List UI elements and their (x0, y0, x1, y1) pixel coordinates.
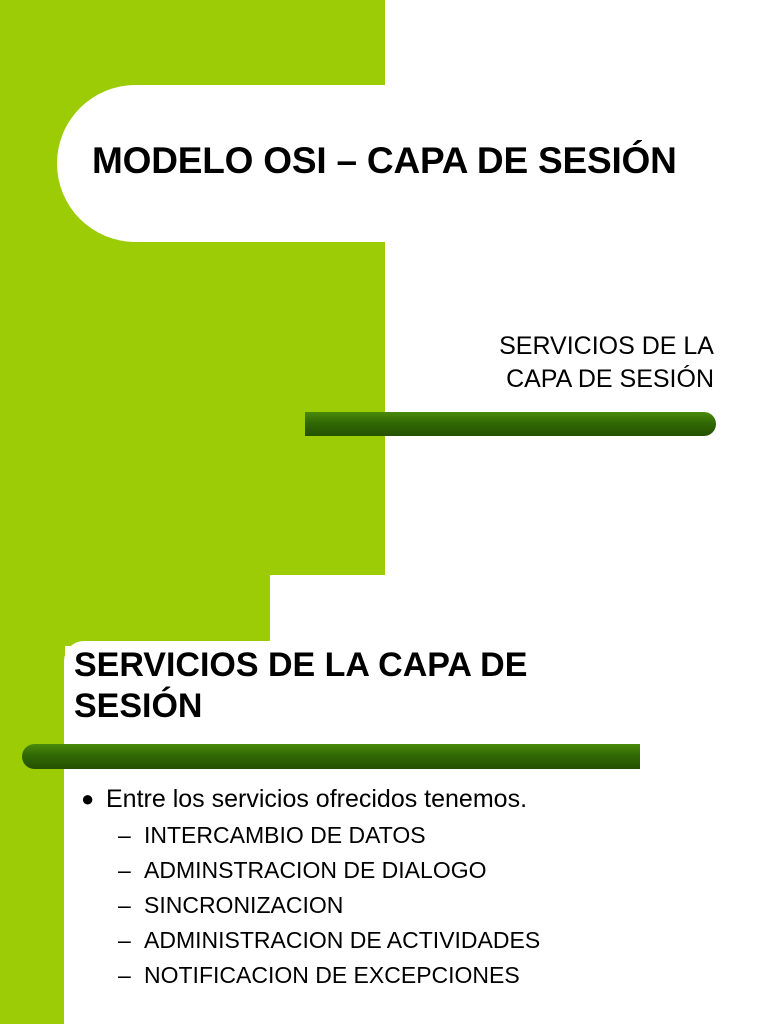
list-item: – ADMINISTRACION DE ACTIVIDADES (106, 923, 716, 958)
dash-bullet-icon: – (118, 923, 131, 958)
list-item-label: NOTIFICACION DE EXCEPCIONES (144, 962, 520, 988)
dash-bullet-icon: – (118, 888, 131, 923)
decorative-green-block-step (0, 574, 270, 646)
section-heading: SERVICIOS DE LA CAPA DE SESIÓN (74, 645, 634, 727)
list-item-intro-label: Entre los servicios ofrecidos tenemos. (106, 785, 527, 813)
slide-subtitle-line-1: SERVICIOS DE LA (300, 330, 714, 363)
bullet-dot-icon: ● (81, 782, 94, 816)
decorative-bar-lower (22, 744, 640, 769)
list-item-label: ADMINSTRACION DE DIALOGO (144, 857, 486, 883)
list-item: – INTERCAMBIO DE DATOS (106, 818, 716, 853)
list-item: – ADMINSTRACION DE DIALOGO (106, 853, 716, 888)
slide-subtitle-line-2: CAPA DE SESIÓN (300, 363, 714, 396)
dash-bullet-icon: – (118, 958, 131, 993)
content-body: ● Entre los servicios ofrecidos tenemos.… (76, 782, 716, 993)
page-title: MODELO OSI – CAPA DE SESIÓN (92, 138, 722, 184)
decorative-green-column-left (0, 640, 65, 1024)
dash-bullet-icon: – (118, 818, 131, 853)
bullet-list-level-2: – INTERCAMBIO DE DATOS – ADMINSTRACION D… (106, 818, 716, 993)
slide-subtitle: SERVICIOS DE LA CAPA DE SESIÓN (300, 330, 714, 396)
list-item: – NOTIFICACION DE EXCEPCIONES (106, 958, 716, 993)
list-item-label: INTERCAMBIO DE DATOS (144, 822, 426, 848)
list-item-label: SINCRONIZACION (144, 892, 343, 918)
slide-canvas: MODELO OSI – CAPA DE SESIÓN SERVICIOS DE… (0, 0, 768, 1024)
dash-bullet-icon: – (118, 853, 131, 888)
decorative-bar-upper (305, 412, 716, 436)
list-item: – SINCRONIZACION (106, 888, 716, 923)
list-item-label: ADMINISTRACION DE ACTIVIDADES (144, 927, 540, 953)
list-item-intro: ● Entre los servicios ofrecidos tenemos.… (76, 782, 716, 993)
bullet-list-level-1: ● Entre los servicios ofrecidos tenemos.… (76, 782, 716, 993)
